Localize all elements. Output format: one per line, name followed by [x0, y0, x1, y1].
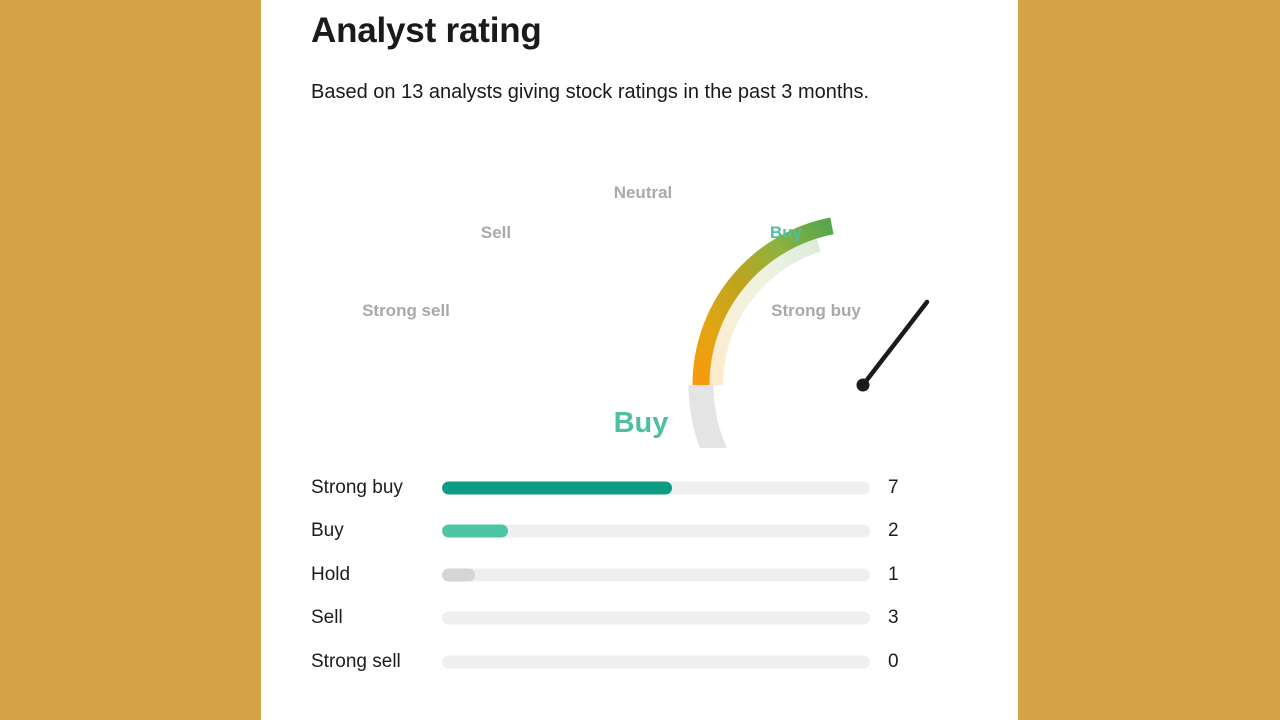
rating-row-fill [442, 525, 508, 538]
page-title: Analyst rating [311, 8, 542, 54]
gauge-label-buy: Buy [741, 220, 831, 246]
rating-row-count: 0 [888, 651, 899, 673]
rating-row-buy: Buy 2 [311, 510, 961, 554]
rating-row-track [442, 525, 870, 538]
app-root: Analyst rating Based on 13 analysts givi… [0, 0, 1280, 720]
rating-row-track [442, 481, 870, 494]
rating-row-label: Hold [311, 564, 350, 586]
rating-row-label: Strong sell [311, 651, 401, 673]
gauge-label-strong-buy: Strong buy [761, 298, 871, 324]
gauge-current-value: Buy [526, 406, 756, 440]
rating-row-hold: Hold 1 [311, 553, 961, 597]
rating-row-fill [442, 612, 541, 625]
rating-row-fill [442, 481, 672, 494]
rating-row-track [442, 568, 870, 581]
analyst-rating-card: Analyst rating Based on 13 analysts givi… [261, 0, 1018, 720]
rating-row-track [442, 612, 870, 625]
rating-breakdown-list: Strong buy 7 Buy 2 Hold 1 Sell 3 Strong … [311, 466, 961, 684]
rating-row-label: Sell [311, 607, 343, 629]
rating-row-count: 7 [888, 477, 899, 499]
gauge-label-neutral: Neutral [563, 180, 723, 206]
rating-row-track [442, 655, 870, 668]
gauge-label-sell: Sell [451, 220, 541, 246]
gauge-label-strong-sell: Strong sell [351, 298, 461, 324]
page-subtitle: Based on 13 analysts giving stock rating… [311, 72, 886, 112]
rating-row-label: Strong buy [311, 477, 403, 499]
rating-row-sell: Sell 3 [311, 597, 961, 641]
rating-row-count: 1 [888, 564, 899, 586]
rating-row-fill [442, 568, 475, 581]
rating-row-strong-sell: Strong sell 0 [311, 640, 961, 684]
rating-row-count: 3 [888, 607, 899, 629]
rating-row-count: 2 [888, 520, 899, 542]
rating-row-label: Buy [311, 520, 344, 542]
rating-row-strong-buy: Strong buy 7 [311, 466, 961, 510]
analyst-rating-gauge: Strong sell Sell Neutral Buy Strong buy … [341, 168, 941, 448]
